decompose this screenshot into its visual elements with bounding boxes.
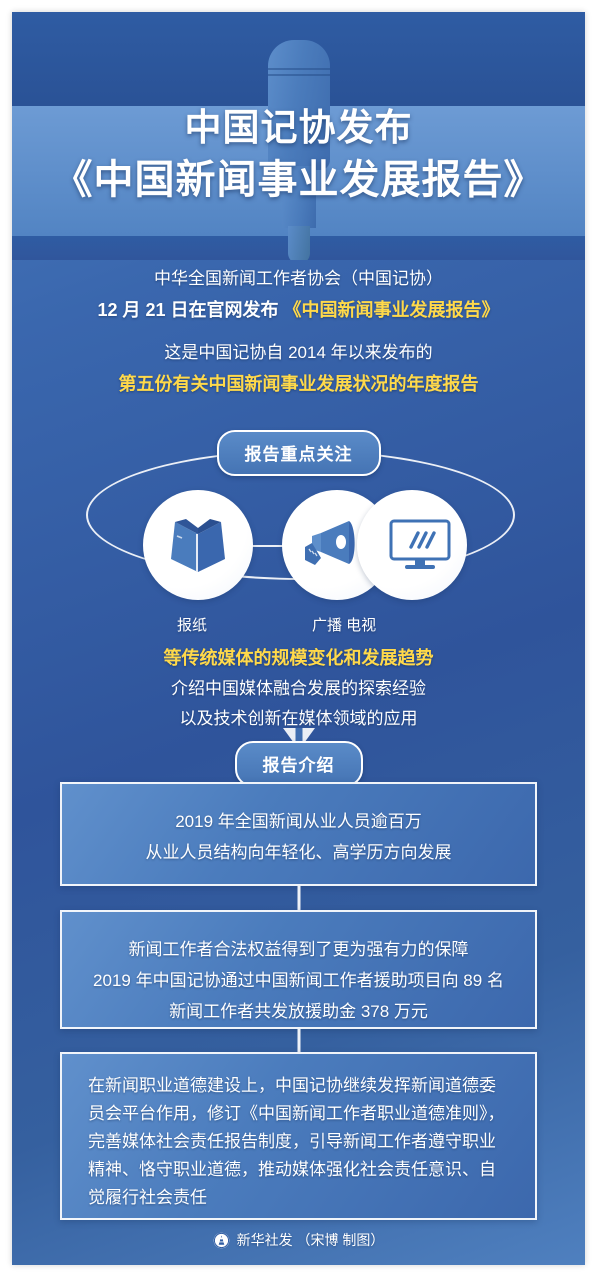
report-connector-1 [297, 886, 300, 910]
footer-credit: 新华社发 （宋博 制图） [12, 1230, 585, 1250]
tv-monitor-icon [387, 517, 453, 573]
report-box-2-line-2: 2019 年中国记协通过中国新闻工作者援助项目向 89 名 [88, 965, 509, 996]
page-title: 中国记协发布 《中国新闻事业发展报告》 [12, 104, 585, 208]
title-line-2: 《中国新闻事业发展报告》 [12, 152, 585, 208]
report-box-3-line-1: 在新闻职业道德建设上，中国记协继续发挥新闻道德委 [88, 1072, 509, 1100]
xinhua-logo-icon [213, 1232, 230, 1249]
intro-section: 中华全国新闻工作者协会（中国记协） 12 月 21 日在官网发布 《中国新闻事业… [12, 264, 585, 400]
intro-line-2-prefix: 12 月 21 日在官网发布 [97, 300, 283, 320]
focus-section: 报告重点关注 [12, 428, 585, 728]
report-box-3-line-4: 精神、恪守职业道德，推动媒体强化社会责任意识、自 [88, 1156, 509, 1184]
report-connector-2 [297, 1029, 300, 1052]
intro-line-3: 这是中国记协自 2014 年以来发布的 [12, 338, 585, 368]
microphone-ring-2 [268, 74, 330, 76]
focus-label-broadcast-tv: 广播 电视 [312, 614, 376, 635]
report-box-3-line-3: 完善媒体社会责任报告制度，引导新闻工作者遵守职业 [88, 1128, 509, 1156]
focus-labels: 报纸 广播 电视 [12, 614, 585, 640]
focus-icon-row [12, 490, 585, 616]
intro-line-1: 中华全国新闻工作者协会（中国记协） [12, 264, 585, 294]
report-box-1-line-1: 2019 年全国新闻从业人员逾百万 [88, 806, 509, 837]
report-box-2: 新闻工作者合法权益得到了更为强有力的保障 2019 年中国记协通过中国新闻工作者… [60, 910, 537, 1029]
megaphone-icon [299, 516, 361, 574]
microphone-stem [288, 226, 310, 260]
report-box-3-content: 在新闻职业道德建设上，中国记协继续发挥新闻道德委 员会平台作用，修订《中国新闻工… [62, 1054, 535, 1230]
footer-credit-text: 新华社发 （宋博 制图） [237, 1230, 385, 1250]
focus-description: 等传统媒体的规模变化和发展趋势 介绍中国媒体融合发展的探索经验 以及技术创新在媒… [12, 642, 585, 734]
report-box-1-line-2: 从业人员结构向年轻化、高学历方向发展 [88, 837, 509, 868]
focus-badge: 报告重点关注 [217, 430, 381, 476]
focus-text-highlight: 等传统媒体的规模变化和发展趋势 [12, 642, 585, 674]
intro-line-4: 第五份有关中国新闻事业发展状况的年度报告 [12, 368, 585, 400]
intro-line-2: 12 月 21 日在官网发布 《中国新闻事业发展报告》 [12, 294, 585, 326]
intro-spacer [12, 326, 585, 338]
poster-header: 中国记协发布 《中国新闻事业发展报告》 [12, 12, 585, 260]
title-line-1: 中国记协发布 [12, 104, 585, 152]
report-box-2-line-1: 新闻工作者合法权益得到了更为强有力的保障 [88, 934, 509, 965]
focus-circle-newspaper [143, 490, 253, 600]
focus-label-newspaper: 报纸 [177, 614, 207, 635]
microphone-ring-1 [268, 68, 330, 70]
report-box-2-line-3: 新闻工作者共发放援助金 378 万元 [88, 996, 509, 1027]
infographic-poster: 中国记协发布 《中国新闻事业发展报告》 中华全国新闻工作者协会（中国记协） 12… [12, 12, 585, 1265]
report-box-1: 2019 年全国新闻从业人员逾百万 从业人员结构向年轻化、高学历方向发展 [60, 782, 537, 886]
intro-line-2-highlight: 《中国新闻事业发展报告》 [284, 300, 500, 320]
report-box-1-content: 2019 年全国新闻从业人员逾百万 从业人员结构向年轻化、高学历方向发展 [62, 784, 535, 890]
focus-text-line-2: 介绍中国媒体融合发展的探索经验 [12, 674, 585, 704]
report-box-3-line-2: 员会平台作用，修订《中国新闻工作者职业道德准则》， [88, 1100, 509, 1128]
report-box-3-line-5: 觉履行社会责任 [88, 1184, 509, 1212]
report-box-3: 在新闻职业道德建设上，中国记协继续发挥新闻道德委 员会平台作用，修订《中国新闻工… [60, 1052, 537, 1220]
report-badge: 报告介绍 [235, 741, 363, 787]
open-book-icon [166, 514, 230, 576]
focus-circle-tv [357, 490, 467, 600]
